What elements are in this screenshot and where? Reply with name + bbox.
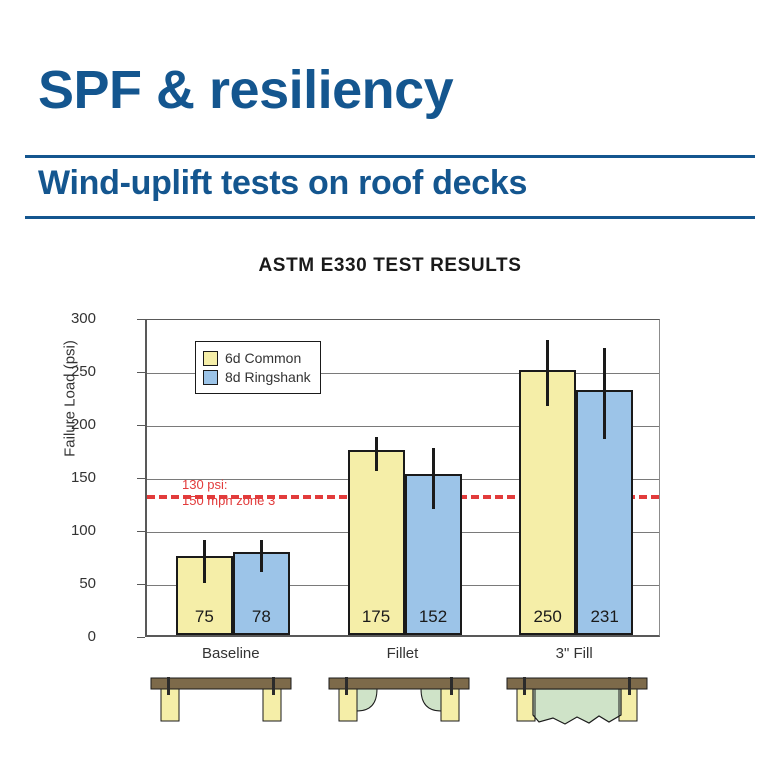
bar-value-label: 75 [178, 607, 231, 627]
y-tick-label-100: 100 [36, 522, 96, 539]
bar-3-fill-6d-common: 250 [519, 370, 576, 635]
threshold-label-line2: 150 mph zone 3 [182, 493, 275, 509]
x-category-label-1: Fillet [317, 645, 489, 662]
full-fill-deck-diagram [503, 672, 651, 734]
legend-item-series-a: 6d Common [203, 350, 311, 366]
y-tick-label-150: 150 [36, 469, 96, 486]
bar-value-label: 78 [235, 607, 288, 627]
error-bar [260, 540, 263, 572]
error-bar [203, 540, 206, 582]
chart-title: ASTM E330 TEST RESULTS [0, 255, 780, 277]
y-tick-mark-50 [137, 584, 145, 585]
chart-plot-area: 7578175152250231 130 psi: 150 mph zone 3… [145, 319, 660, 637]
error-bar [603, 348, 606, 439]
fillet-deck-diagram [325, 672, 473, 734]
chart-legend: 6d Common 8d Ringshank [195, 341, 321, 394]
threshold-annotation: 130 psi: 150 mph zone 3 [182, 477, 275, 510]
error-bar [375, 437, 378, 471]
page-title: SPF & resiliency [38, 62, 738, 119]
header-divider-top [25, 155, 755, 158]
error-bar [546, 340, 549, 406]
legend-item-series-b: 8d Ringshank [203, 369, 311, 385]
y-tick-label-200: 200 [36, 416, 96, 433]
y-tick-mark-0 [137, 637, 145, 638]
threshold-label-line1: 130 psi: [182, 477, 275, 493]
header-divider-bottom [25, 216, 755, 219]
page-subtitle: Wind-uplift tests on roof decks [38, 165, 738, 202]
y-tick-label-50: 50 [36, 575, 96, 592]
bar-value-label: 231 [578, 607, 631, 627]
x-category-label-0: Baseline [145, 645, 317, 662]
bar-value-label: 175 [350, 607, 403, 627]
y-tick-label-0: 0 [36, 628, 96, 645]
y-axis-label: Failure Load (psi) [62, 269, 79, 529]
y-tick-label-250: 250 [36, 363, 96, 380]
baseline-deck-diagram [147, 672, 295, 734]
y-tick-mark-300 [137, 319, 145, 320]
y-tick-label-300: 300 [36, 310, 96, 327]
y-tick-mark-100 [137, 531, 145, 532]
y-tick-mark-250 [137, 372, 145, 373]
error-bar [432, 448, 435, 508]
x-category-label-2: 3" Fill [488, 645, 660, 662]
legend-swatch-8d-ringshank [203, 370, 218, 385]
bar-value-label: 152 [407, 607, 460, 627]
bar-value-label: 250 [521, 607, 574, 627]
legend-label-6d-common: 6d Common [225, 350, 301, 366]
legend-swatch-6d-common [203, 351, 218, 366]
y-tick-mark-200 [137, 425, 145, 426]
legend-label-8d-ringshank: 8d Ringshank [225, 369, 311, 385]
y-tick-mark-150 [137, 478, 145, 479]
bar-fillet-6d-common: 175 [348, 450, 405, 636]
